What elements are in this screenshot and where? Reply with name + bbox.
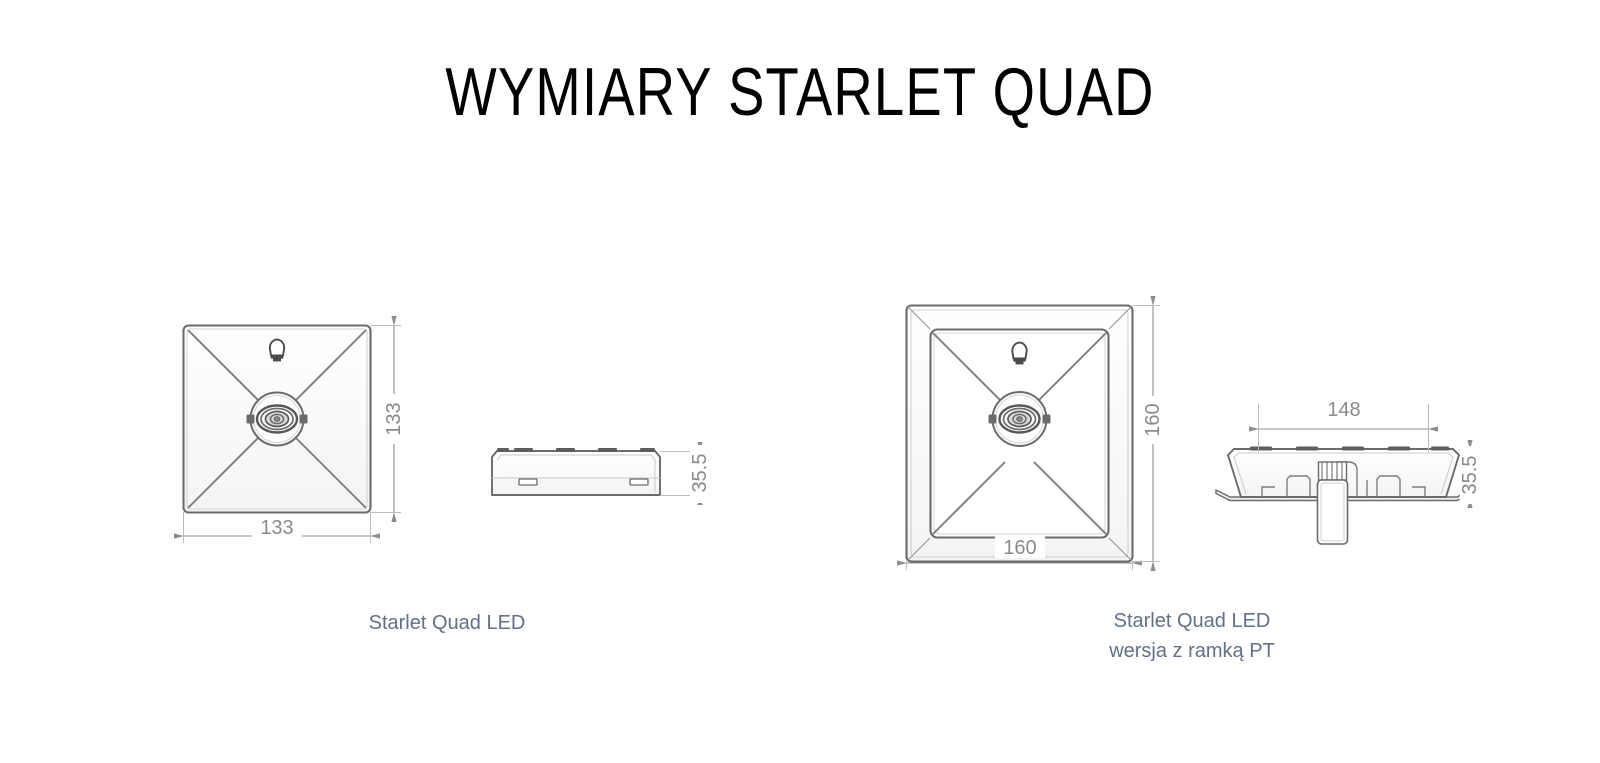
lamp-bulb-icon: [270, 340, 284, 362]
right-side-view-height-label: 35.5: [1459, 456, 1481, 495]
caption-left-line-1: Starlet Quad LED: [282, 608, 612, 638]
right-side-view-width-label: 148: [1327, 399, 1360, 421]
left-side-view-height-dimension: 35.5: [660, 445, 711, 503]
left-top-view-width-label: 133: [260, 517, 293, 539]
right-top-view-height-dimension: 160: [1133, 306, 1165, 562]
right-side-view-height-dimension: 35.5: [1457, 446, 1481, 504]
lamp-bulb-icon: [1012, 343, 1026, 365]
caption-right-figure: Starlet Quad LED wersja z ramką PT: [1027, 606, 1357, 666]
left-top-view-height-dimension: 133: [371, 326, 406, 513]
right-side-view-stem: [1318, 480, 1348, 544]
right-top-view-height-label: 160: [1142, 403, 1164, 436]
caption-left-figure: Starlet Quad LED: [282, 608, 612, 638]
right-side-view-width-dimension: 148: [1259, 398, 1429, 452]
left-top-view-height-label: 133: [383, 402, 405, 435]
caption-right-line-1: Starlet Quad LED: [1027, 606, 1357, 636]
left-top-view-width-dimension: 133: [184, 512, 371, 543]
right-figure-top-view: 160 160: [907, 306, 1165, 571]
left-side-view-height-label: 35.5: [689, 454, 711, 493]
right-figure-side-view: 148 35.5: [1216, 398, 1481, 544]
right-side-view-cable-gland: [1318, 462, 1348, 544]
left-side-view-housing: [492, 451, 660, 495]
caption-right-line-2: wersja z ramką PT: [1027, 636, 1357, 666]
left-figure-side-view: 35.5: [492, 445, 711, 503]
right-top-view-width-label: 160: [1003, 537, 1036, 559]
technical-drawing-canvas: 133 133: [0, 0, 1600, 763]
left-figure-top-view: 133 133: [184, 326, 406, 544]
